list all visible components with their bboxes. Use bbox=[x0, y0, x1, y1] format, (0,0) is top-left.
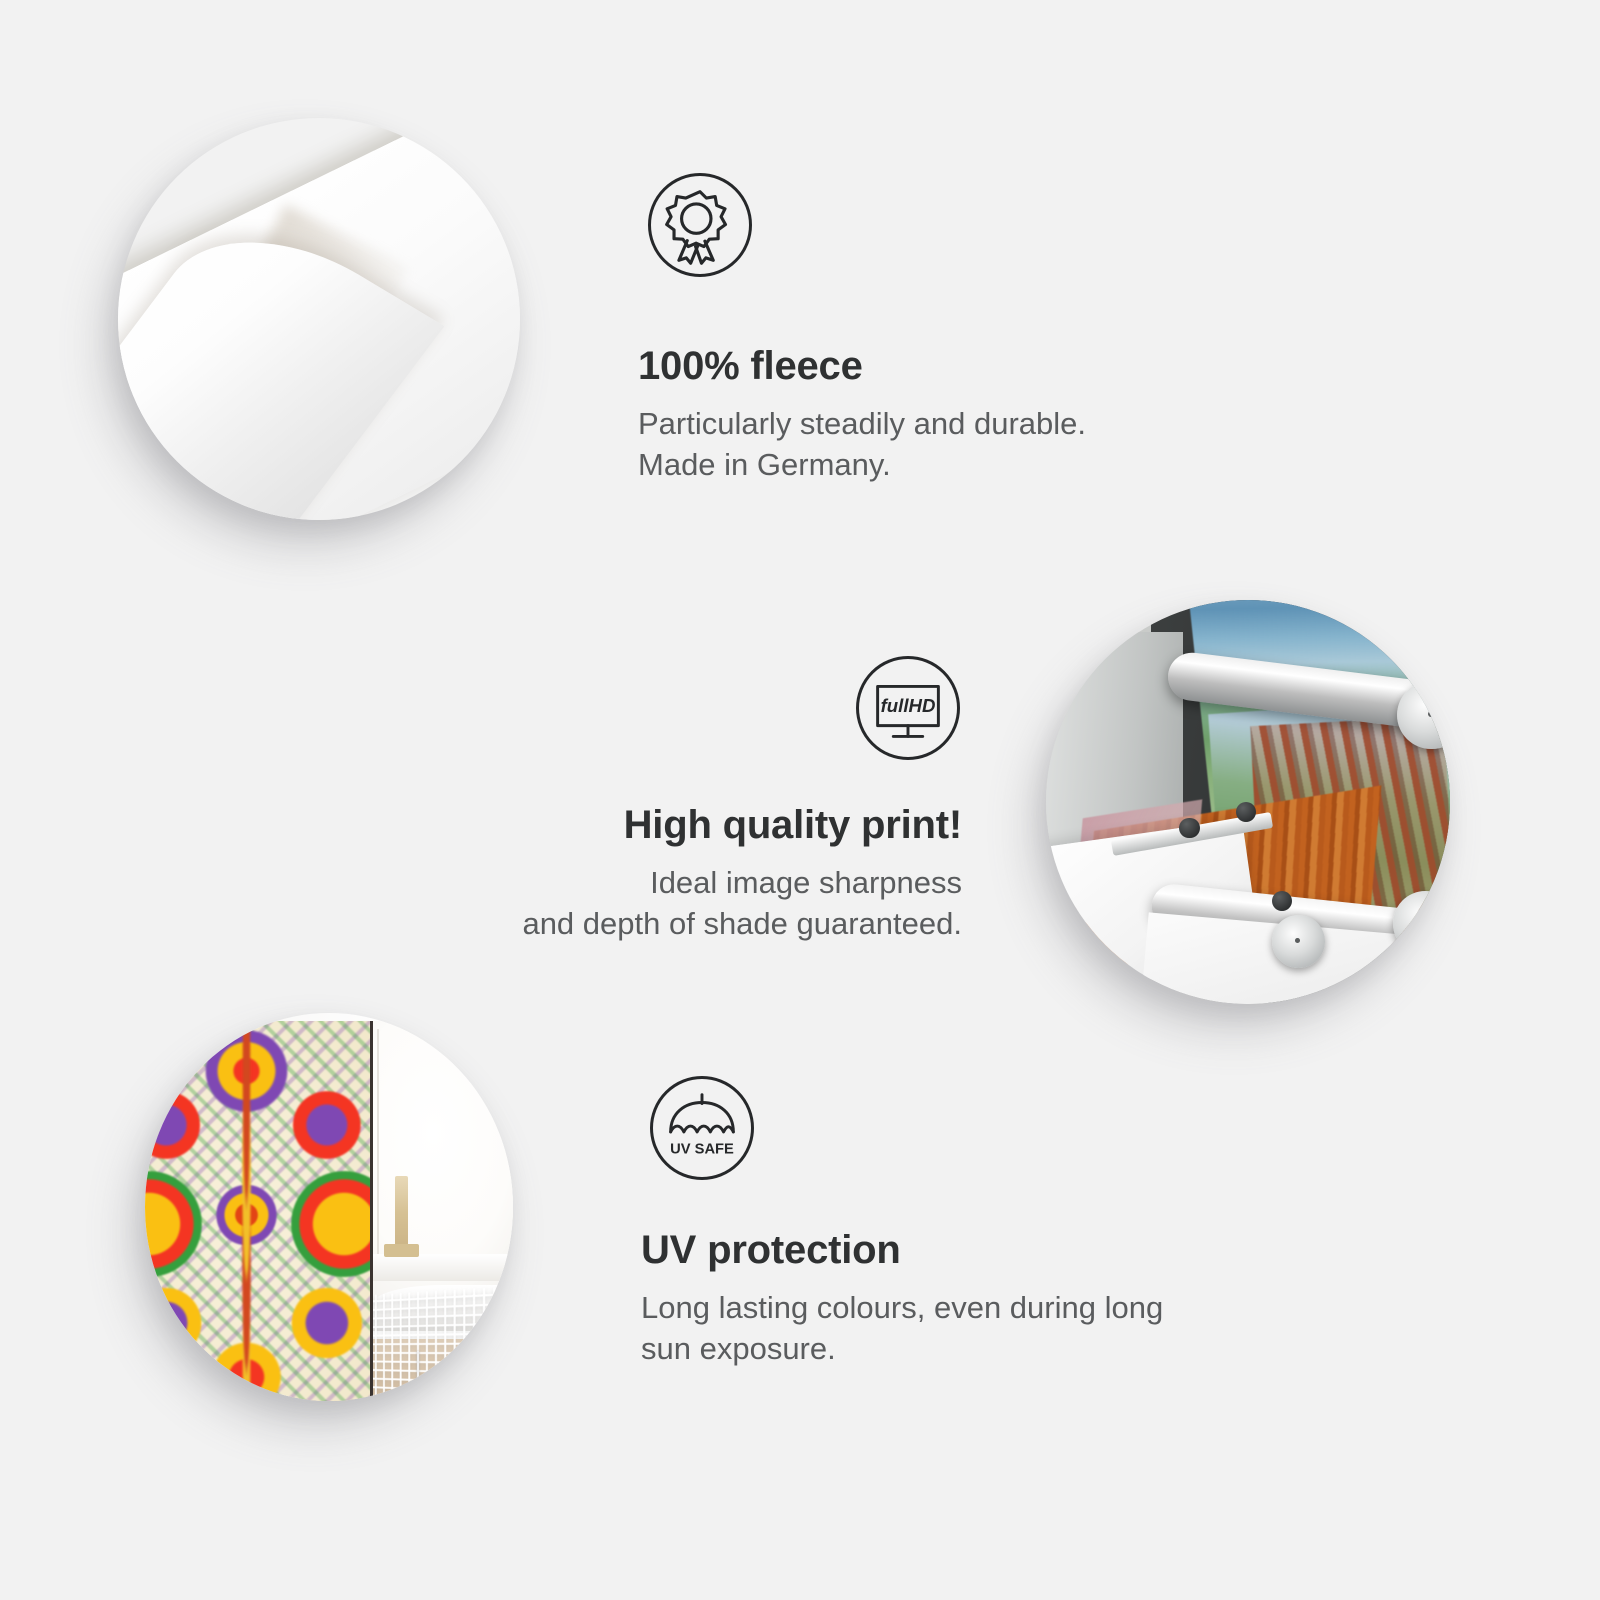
peeling-fleece-wallpaper-photo bbox=[118, 118, 520, 520]
fullhd-icon-label: fullHD bbox=[881, 695, 936, 716]
printer-knob bbox=[1179, 818, 1199, 838]
mandala-wallpaper-room-photo bbox=[145, 1013, 513, 1401]
printer-wheel bbox=[1393, 891, 1450, 956]
chair-leg bbox=[476, 1351, 478, 1401]
feature-text-print: High quality print! Ideal image sharpnes… bbox=[522, 803, 962, 945]
award-ribbon-icon bbox=[648, 173, 752, 277]
mandala-pattern bbox=[145, 1021, 373, 1401]
feature-description-print: Ideal image sharpness and depth of shade… bbox=[522, 863, 962, 945]
window-frame bbox=[377, 1029, 379, 1277]
feature-title-uv: UV protection bbox=[641, 1228, 1163, 1272]
printer-wheel bbox=[1272, 915, 1325, 968]
chair-leg bbox=[417, 1351, 419, 1401]
uv-safe-icon-label: UV SAFE bbox=[670, 1141, 734, 1157]
feature-title-print: High quality print! bbox=[522, 803, 962, 847]
candlestick bbox=[395, 1176, 408, 1257]
feature-description-fleece: Particularly steadily and durable. Made … bbox=[638, 404, 1086, 486]
feature-text-uv: UV protection Long lasting colours, even… bbox=[641, 1228, 1163, 1370]
fullhd-monitor-icon: fullHD bbox=[856, 656, 960, 760]
feature-text-fleece: 100% fleece Particularly steadily and du… bbox=[638, 344, 1086, 486]
feature-infographic: 100% fleece Particularly steadily and du… bbox=[0, 0, 1600, 1600]
feature-title-fleece: 100% fleece bbox=[638, 344, 1086, 388]
mandala-wallpaper-panel bbox=[145, 1021, 373, 1401]
uv-safe-umbrella-icon: UV SAFE bbox=[650, 1076, 754, 1180]
feature-description-uv: Long lasting colours, even during long s… bbox=[641, 1288, 1163, 1370]
mandala-center-motif bbox=[237, 1021, 257, 1401]
large-format-printer-photo bbox=[1046, 600, 1450, 1004]
window-sill bbox=[358, 1254, 513, 1281]
